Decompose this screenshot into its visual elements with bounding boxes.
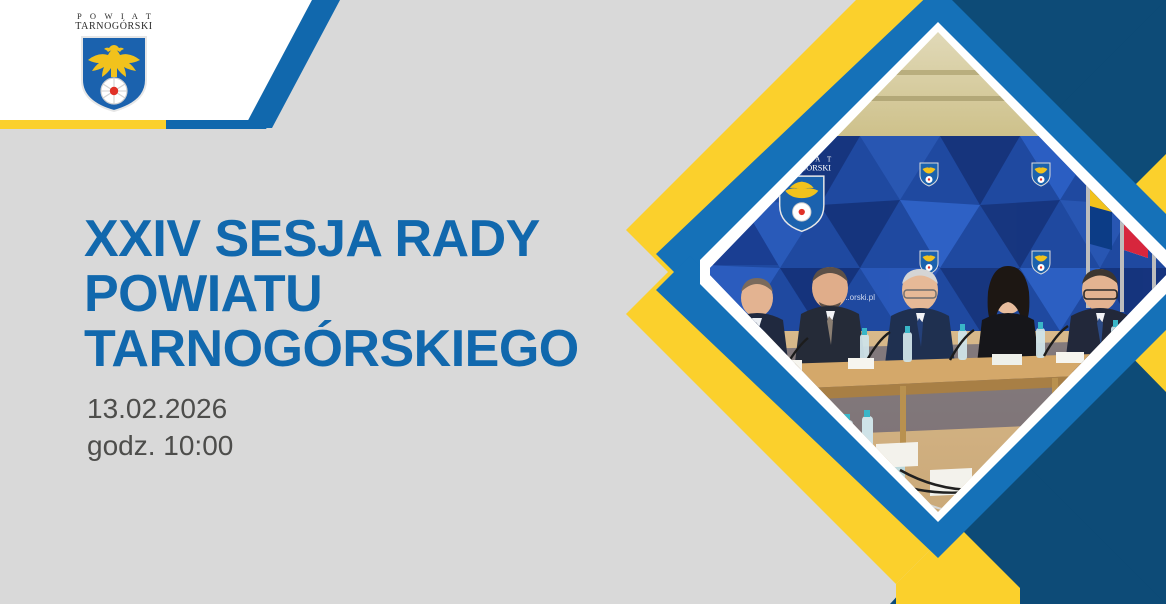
powiat-tarnogorski-logo: P O W I A T TARNOGÓRSKI: [66, 12, 162, 116]
decorative-diamond-graphic: P O W I A T TARNOGÓRSKI: [600, 0, 1166, 604]
page-title: XXIV SESJA RADY POWIATU TARNOGÓRSKIEGO: [84, 212, 644, 377]
logo-line-tarnogorski: TARNOGÓRSKI: [66, 22, 162, 33]
svg-text:...orski.pl: ...orski.pl: [843, 293, 875, 302]
title-line-2: POWIATU: [84, 267, 644, 322]
header-yellow-stripe: [0, 120, 166, 129]
event-date: 13.02.2026: [87, 390, 233, 427]
title-line-1: XXIV SESJA RADY: [84, 212, 644, 267]
header-panel: [0, 0, 340, 132]
logo-wordmark: P O W I A T TARNOGÓRSKI: [66, 12, 162, 32]
logo-line-powiat: P O W I A T: [66, 12, 162, 21]
event-time: godz. 10:00: [87, 427, 233, 464]
crest-shield-icon: [66, 34, 162, 114]
poster-canvas: P O W I A T TARNOGÓRSKI: [0, 0, 1166, 604]
header-blue-stripe: [166, 120, 272, 129]
event-meta: 13.02.2026 godz. 10:00: [87, 390, 233, 464]
title-line-3: TARNOGÓRSKIEGO: [84, 322, 644, 377]
